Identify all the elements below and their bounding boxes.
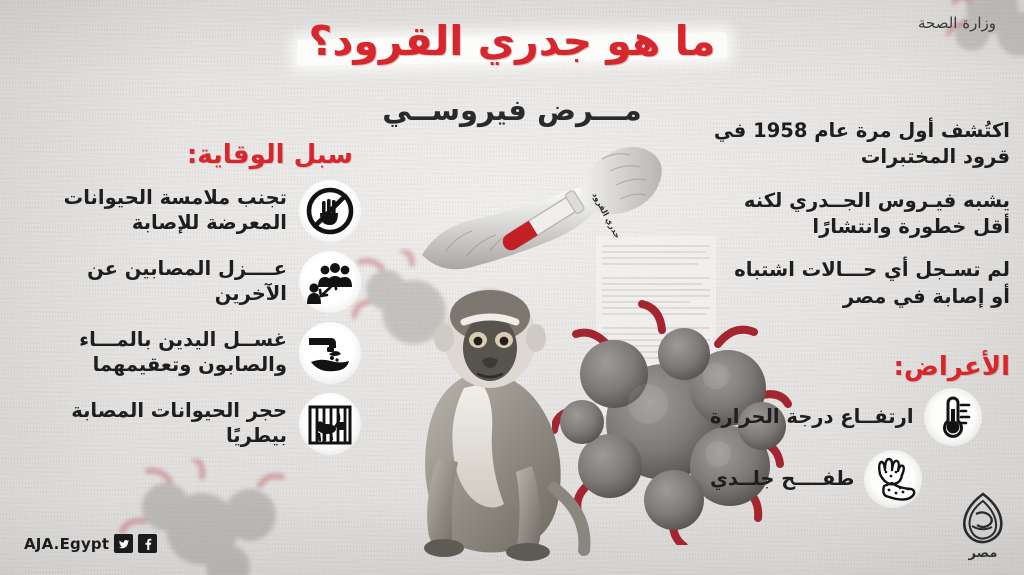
al-jazeera-logo: مصر [960, 492, 1006, 561]
no-touch-animal-icon [299, 180, 361, 242]
prevention-heading: سبل الوقاية: [16, 140, 361, 170]
svg-text:جدري القرود: جدري القرود [590, 191, 622, 240]
page-title: ما هو جدري القرود؟ [309, 20, 716, 63]
prevention-item: غســل اليدين بالمـــاء والصابون وتعقيمهم… [16, 322, 361, 384]
al-jazeera-logo-subtitle: مصر [960, 546, 1006, 561]
thermometer-icon [924, 388, 982, 446]
fact-item: لم تسـجل أي حـــالات اشتباه أو إصابة في … [710, 257, 1010, 310]
fact-item: يشبه فيـروس الجــدري لكنه أقل خطورة وانت… [710, 188, 1010, 241]
vervet-monkey-photo [378, 276, 608, 566]
virus-particle-cluster [352, 250, 472, 370]
title-block: ما هو جدري القرود؟ [0, 20, 1024, 63]
scientific-paper-background [596, 236, 716, 416]
prevention-item-label: غســل اليدين بالمـــاء والصابون وتعقيمهم… [16, 328, 287, 378]
facebook-icon[interactable] [138, 534, 157, 553]
symptom-item-label: ارتفــاع درجة الحرارة [710, 404, 914, 429]
skin-rash-arm-icon [864, 450, 922, 508]
prevention-item-label: حجر الحيوانات المصابة بيطريًا [16, 399, 287, 449]
symptom-item: ارتفــاع درجة الحرارة [710, 388, 1010, 446]
handwashing-icon [299, 322, 361, 384]
symptoms-heading: الأعراض: [710, 352, 1010, 382]
prevention-item-label: عــــزل المصابين عن الآخرين [16, 257, 287, 307]
twitter-icon[interactable] [114, 534, 133, 553]
prevention-item: تجنب ملامسة الحيوانات المعرضة للإصابة [16, 180, 361, 242]
virus-particle-cluster [110, 459, 300, 575]
prevention-item-label: تجنب ملامسة الحيوانات المعرضة للإصابة [16, 186, 287, 236]
prevention-item: عــــزل المصابين عن الآخرين [16, 251, 361, 313]
social-distancing-icon [299, 251, 361, 313]
social-handle: AJA.Egypt [22, 535, 109, 553]
al-jazeera-teardrop-icon [960, 492, 1006, 544]
caged-animal-icon [299, 393, 361, 455]
symptoms-section: الأعراض: ارتفــاع درجة الحرارة [710, 352, 1010, 512]
infographic-poster: جدري القرود [0, 0, 1024, 575]
prevention-section: سبل الوقاية: تجنب ملامسة الحيوانات المعر… [16, 140, 361, 464]
prevention-item: حجر الحيوانات المصابة بيطريًا [16, 393, 361, 455]
gloved-hand-test-tube-photo: جدري القرود [420, 135, 670, 310]
facts-section: اكتُشف أول مرة عام 1958 في قرود المختبرا… [710, 118, 1010, 327]
social-footer: AJA.Egypt [22, 534, 157, 553]
fact-item: اكتُشف أول مرة عام 1958 في قرود المختبرا… [710, 118, 1010, 171]
symptom-item-label: طفــــح جلــدي [710, 466, 854, 491]
